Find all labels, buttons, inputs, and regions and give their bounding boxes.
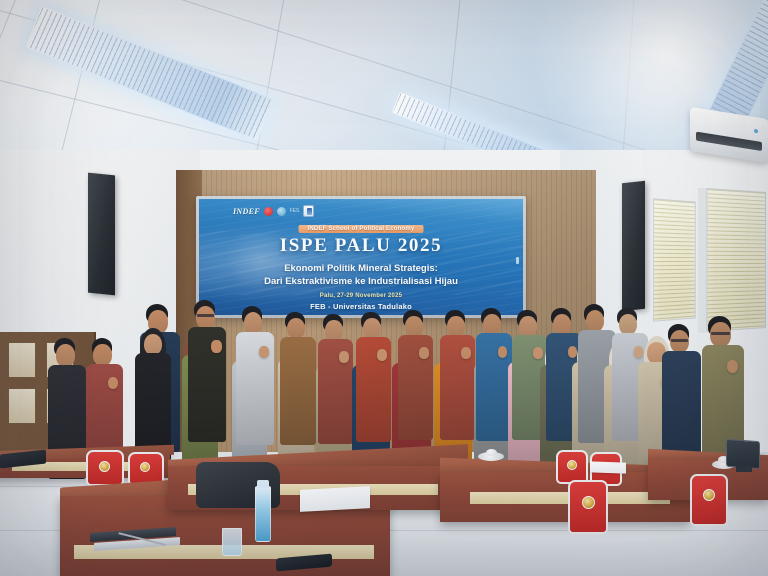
person-back-9 bbox=[398, 312, 433, 444]
hand-gesture bbox=[419, 347, 429, 358]
torso bbox=[280, 337, 316, 445]
face bbox=[244, 312, 263, 335]
hand-gesture bbox=[108, 377, 118, 389]
face bbox=[405, 316, 423, 337]
face bbox=[586, 310, 605, 333]
hand-gesture bbox=[339, 351, 349, 362]
screen-event-title: ISPE PALU 2025 bbox=[199, 235, 523, 257]
face bbox=[144, 334, 162, 356]
face bbox=[519, 316, 537, 337]
paper-sheet-left bbox=[300, 486, 370, 512]
face bbox=[710, 322, 731, 347]
screen-subtitle: Ekonomi Politik Mineral Strategis: Dari … bbox=[199, 262, 523, 288]
person-back-10 bbox=[440, 312, 475, 444]
hand-gesture bbox=[211, 340, 222, 352]
screen-subtitle-line2: Dari Ekstraktivisme ke Industrialisasi H… bbox=[199, 275, 523, 288]
tablet-stand bbox=[736, 466, 752, 472]
chair-emblem-icon bbox=[703, 489, 715, 501]
glasses-icon bbox=[671, 339, 689, 342]
chair-emblem-icon bbox=[567, 460, 577, 470]
face bbox=[93, 344, 111, 366]
hand-gesture bbox=[259, 346, 269, 358]
face bbox=[196, 306, 215, 329]
paper-sheet-right bbox=[590, 461, 626, 473]
face bbox=[363, 318, 381, 339]
face bbox=[325, 320, 343, 341]
bottle-cap[interactable] bbox=[257, 480, 269, 488]
hand-gesture bbox=[377, 349, 387, 360]
tablet-on-stand[interactable] bbox=[726, 439, 760, 469]
water-bottle[interactable] bbox=[255, 486, 271, 542]
face bbox=[553, 314, 571, 336]
chair-emblem-icon bbox=[140, 462, 150, 472]
person-back-4 bbox=[236, 308, 274, 449]
face bbox=[447, 316, 465, 337]
partner-logo-teal-label: FES bbox=[290, 208, 299, 214]
indef-wordmark-icon: INDEF bbox=[233, 207, 260, 216]
organizer-logo-row: INDEF FES bbox=[233, 205, 314, 217]
person-back-11 bbox=[476, 310, 512, 445]
person-back-7 bbox=[318, 316, 353, 448]
face bbox=[619, 314, 637, 336]
partner-logo-teal-icon bbox=[277, 207, 286, 216]
person-back-5 bbox=[280, 314, 316, 449]
hand-gesture bbox=[461, 347, 471, 358]
wall-speaker-right bbox=[622, 181, 645, 311]
person-back-8 bbox=[356, 314, 391, 446]
face bbox=[483, 314, 501, 336]
person-back-3 bbox=[188, 302, 226, 446]
glasses-icon bbox=[711, 332, 730, 335]
group-photo-scene: INDEF FES INDEF School of Political Econ… bbox=[0, 0, 768, 576]
partner-logo-red-icon bbox=[264, 207, 273, 216]
wall-speaker-left bbox=[88, 173, 115, 296]
face bbox=[287, 318, 305, 340]
partner-logo-shield-icon bbox=[303, 205, 314, 217]
drinking-glass[interactable] bbox=[222, 528, 242, 556]
screen-ribbon-label: INDEF School of Political Economy bbox=[299, 225, 424, 233]
chair-emblem-icon bbox=[582, 496, 595, 509]
screen-control-indicator-icon bbox=[516, 257, 519, 264]
hand-gesture bbox=[498, 346, 508, 358]
screen-subtitle-line1: Ekonomi Politik Mineral Strategis: bbox=[199, 262, 523, 275]
face bbox=[56, 344, 75, 367]
chair-emblem-icon bbox=[99, 461, 110, 472]
coffee-cup[interactable] bbox=[486, 449, 497, 456]
